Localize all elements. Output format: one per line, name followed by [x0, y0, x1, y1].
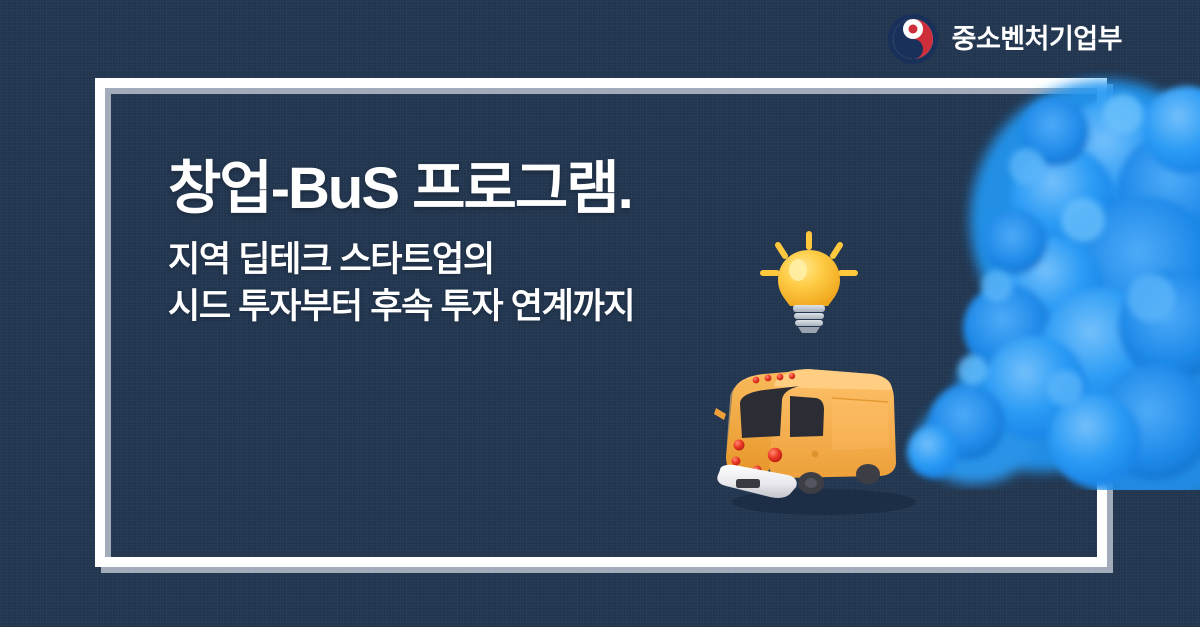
taeguk-symbol-icon — [888, 14, 938, 64]
ministry-logo: 중소벤처기업부 — [888, 14, 1122, 64]
headline-title: 창업-BuS 프로그램. — [168, 158, 634, 219]
subline-1: 지역 딥테크 스타트업의 — [168, 237, 634, 283]
subline-2: 시드 투자부터 후속 투자 연계까지 — [168, 284, 634, 330]
copy-block: 창업-BuS 프로그램. 지역 딥테크 스타트업의 시드 투자부터 후속 투자 … — [168, 158, 634, 330]
lightbulb-icon — [757, 228, 861, 336]
van-side-window — [790, 396, 824, 437]
van-license-plate — [736, 479, 760, 488]
poster-canvas: 중소벤처기업부 창업-BuS 프로그램. 지역 딥테크 스타트업의 시드 투자부… — [0, 0, 1200, 627]
delivery-van-illustration — [712, 352, 932, 522]
ministry-name-text: 중소벤처기업부 — [952, 26, 1122, 53]
